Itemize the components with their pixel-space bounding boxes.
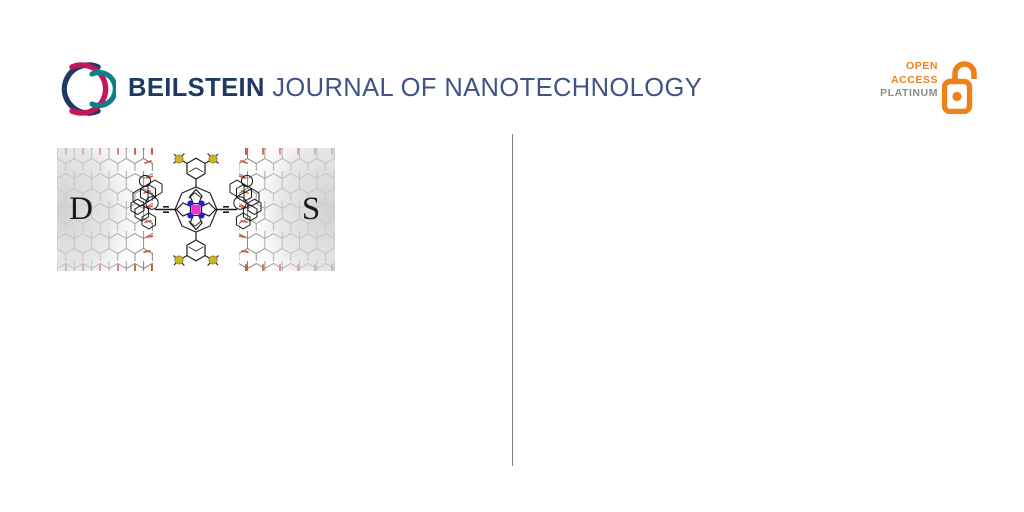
metal-center-atom bbox=[191, 205, 200, 214]
bottom-aryl-substituent bbox=[173, 232, 218, 266]
masthead: BEILSTEIN JOURNAL OF NANOTECHNOLOGY OPEN… bbox=[0, 0, 1024, 132]
open-access-line-open: OPEN bbox=[880, 60, 938, 74]
wordmark-bold: BEILSTEIN bbox=[128, 74, 265, 102]
source-electrode-label: S bbox=[302, 191, 320, 227]
sulfur-atom bbox=[175, 155, 183, 163]
top-aryl-substituent bbox=[173, 153, 218, 187]
open-access-line-platinum: PLATINUM bbox=[880, 87, 938, 101]
open-lock-icon bbox=[942, 60, 982, 114]
beilstein-swirl-logo-icon bbox=[54, 58, 116, 120]
column-divider bbox=[512, 134, 513, 466]
sulfur-atom bbox=[209, 155, 217, 163]
molecule-junction-figure: D S bbox=[57, 141, 335, 278]
sulfur-atom bbox=[175, 256, 183, 264]
open-access-text: OPEN ACCESS PLATINUM bbox=[880, 60, 938, 101]
transport-chart bbox=[58, 286, 338, 454]
sulfur-atom bbox=[209, 256, 217, 264]
alkyne-linker-right bbox=[215, 207, 237, 212]
wordmark-light: JOURNAL OF NANOTECHNOLOGY bbox=[265, 74, 702, 102]
journal-wordmark: BEILSTEIN JOURNAL OF NANOTECHNOLOGY bbox=[128, 74, 702, 103]
alkyne-linker-left bbox=[155, 207, 177, 212]
drain-electrode-label: D bbox=[69, 191, 93, 227]
open-access-badge: OPEN ACCESS PLATINUM bbox=[878, 58, 982, 120]
open-access-line-access: ACCESS bbox=[880, 74, 938, 88]
